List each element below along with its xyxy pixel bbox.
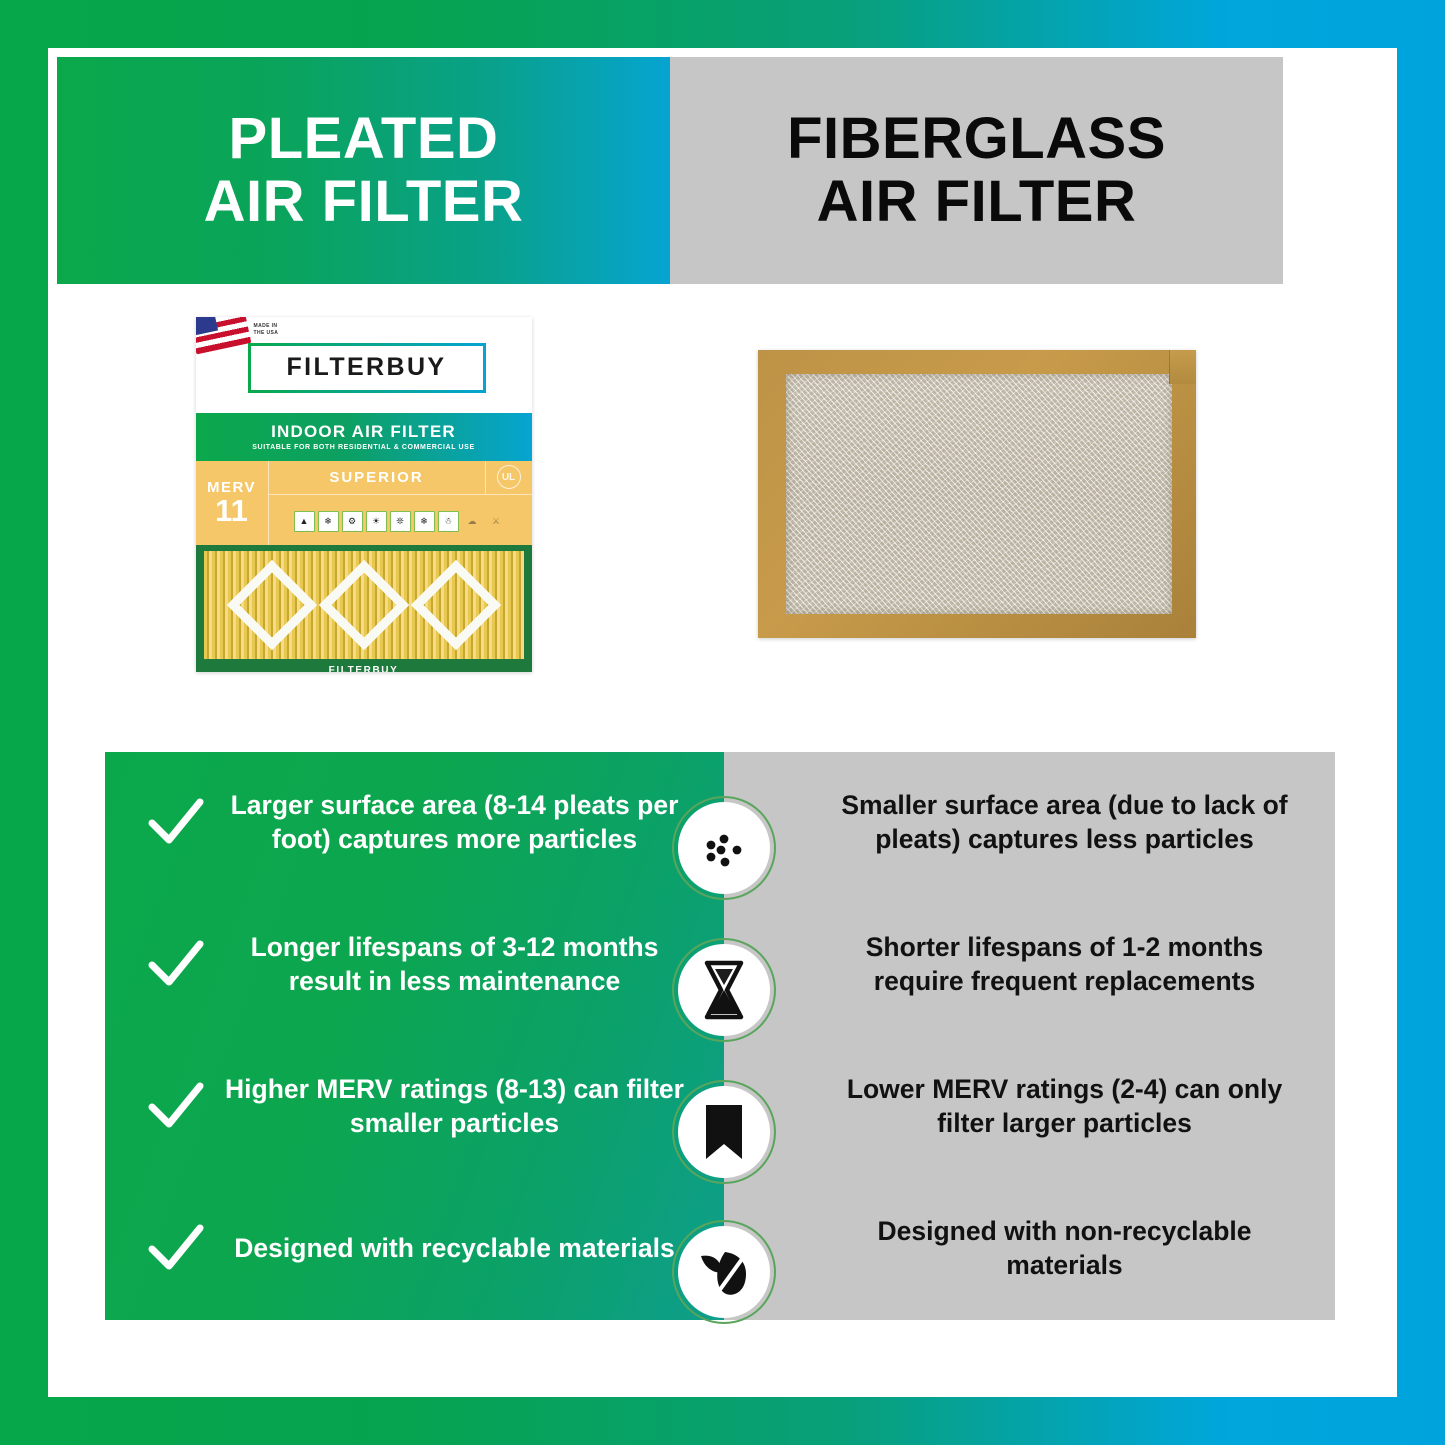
capture-icons-row: ▲ ❄ ⚙ ☀ ❊ ❄ ☃ ☁ ⚔ [269, 495, 532, 545]
table-row: Higher MERV ratings (8-13) can filter sm… [105, 1036, 724, 1178]
checkmark-icon [139, 940, 213, 990]
checkmark-icon [139, 798, 213, 848]
header-band: PLEATED AIR FILTER FIBERGLASS AIR FILTER [57, 57, 1283, 284]
poster-root: PLEATED AIR FILTER FIBERGLASS AIR FILTER… [0, 0, 1445, 1445]
box-banner: INDOOR AIR FILTER SUITABLE FOR BOTH RESI… [196, 413, 532, 461]
dust-mite-icon: ☃ [438, 511, 459, 532]
pollen-icon: ❄ [318, 511, 339, 532]
support-diamond-1 [226, 559, 317, 650]
smog-icon: ☁ [462, 511, 483, 532]
fiberglass-drawback-text: Smaller surface area (due to lack of ple… [824, 789, 1305, 857]
header-pleated-line1: PLEATED [229, 108, 499, 171]
table-row: Longer lifespans of 3-12 months result i… [105, 894, 724, 1036]
checkmark-icon [139, 1224, 213, 1274]
merv-block: MERV 11 [196, 461, 269, 545]
ul-seal-icon: UL [497, 465, 521, 489]
filterbuy-logo-text: FILTERBUY [286, 353, 446, 382]
comparison-column-pleated: Larger surface area (8-14 pleats per foo… [105, 752, 724, 1320]
support-diamond-2 [318, 559, 409, 650]
header-pleated-line2: AIR FILTER [204, 171, 524, 234]
usa-flag-icon [196, 317, 251, 354]
box-banner-title: INDOOR AIR FILTER [271, 422, 456, 442]
table-row: Smaller surface area (due to lack of ple… [724, 752, 1335, 894]
mold-spore-icon: ⚙ [342, 511, 363, 532]
table-row: Shorter lifespans of 1-2 months require … [724, 894, 1335, 1036]
header-fiberglass-line2: AIR FILTER [817, 171, 1137, 234]
tier-label: SUPERIOR [269, 469, 485, 486]
header-fiberglass-line1: FIBERGLASS [787, 108, 1166, 171]
pet-dander-icon: ❄ [414, 511, 435, 532]
box-banner-subtitle: SUITABLE FOR BOTH RESIDENTIAL & COMMERCI… [252, 444, 474, 451]
fiberglass-product-cell [670, 284, 1283, 704]
merv-value: 11 [215, 496, 248, 525]
table-row: Designed with non-recyclable materials [724, 1178, 1335, 1320]
fiberglass-drawback-text: Shorter lifespans of 1-2 months require … [824, 931, 1305, 999]
box-merv-section: MERV 11 SUPERIOR UL ▲ ❄ ⚙ [196, 461, 532, 545]
filterbuy-logo: FILTERBUY [248, 343, 486, 393]
box-top-section: MADE INTHE USA FILTERBUY [196, 317, 532, 413]
fiberglass-filter-image [758, 350, 1196, 638]
header-pleated: PLEATED AIR FILTER [57, 57, 670, 284]
fiberglass-drawback-text: Lower MERV ratings (2-4) can only filter… [824, 1073, 1305, 1141]
box-pleat-window: FILTERBUY [196, 545, 532, 672]
support-diamond-3 [410, 559, 501, 650]
table-row: Larger surface area (8-14 pleats per foo… [105, 752, 724, 894]
comparison-panel: Larger surface area (8-14 pleats per foo… [105, 752, 1335, 1320]
comparison-column-fiberglass: Smaller surface area (due to lack of ple… [724, 752, 1335, 1320]
pleat-media-texture [204, 551, 524, 659]
checkmark-icon [139, 1082, 213, 1132]
pleated-benefit-text: Larger surface area (8-14 pleats per foo… [213, 789, 702, 857]
header-fiberglass: FIBERGLASS AIR FILTER [670, 57, 1283, 284]
made-in-usa-label: MADE INTHE USA [254, 323, 279, 338]
pleated-benefit-text: Longer lifespans of 3-12 months result i… [213, 931, 702, 999]
cardboard-frame-tab [1169, 350, 1196, 384]
certification-seal: UL [485, 461, 532, 494]
filterbuy-box-image: MADE INTHE USA FILTERBUY INDOOR AIR FILT… [196, 317, 532, 672]
table-row: Designed with recyclable materials [105, 1178, 724, 1320]
box-footer-brand: FILTERBUY [204, 659, 524, 672]
odor-icon: ⚔ [486, 511, 507, 532]
box-tier-row: SUPERIOR UL [269, 461, 532, 495]
smoke-particle-icon: ❊ [390, 511, 411, 532]
fiberglass-drawback-text: Designed with non-recyclable materials [824, 1215, 1305, 1283]
box-tier-block: SUPERIOR UL ▲ ❄ ⚙ ☀ ❊ ❄ ☃ [269, 461, 532, 545]
product-images-band: MADE INTHE USA FILTERBUY INDOOR AIR FILT… [57, 284, 1283, 704]
pleated-benefit-text: Designed with recyclable materials [213, 1232, 702, 1266]
pleated-benefit-text: Higher MERV ratings (8-13) can filter sm… [213, 1073, 702, 1141]
fiberglass-mesh-texture [786, 374, 1172, 614]
pleated-product-cell: MADE INTHE USA FILTERBUY INDOOR AIR FILT… [57, 284, 670, 704]
fiberglass-rows: Smaller surface area (due to lack of ple… [724, 752, 1335, 1320]
table-row: Lower MERV ratings (2-4) can only filter… [724, 1036, 1335, 1178]
pleated-rows: Larger surface area (8-14 pleats per foo… [105, 752, 724, 1320]
bacteria-icon: ☀ [366, 511, 387, 532]
dust-icon: ▲ [294, 511, 315, 532]
